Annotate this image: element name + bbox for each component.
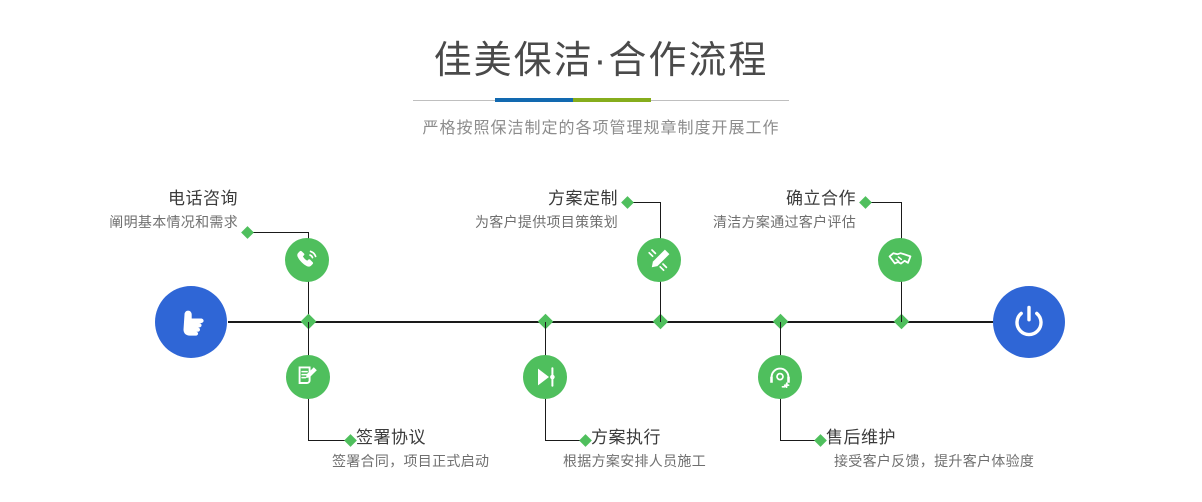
- label-marker-3: [621, 196, 634, 209]
- step-title-3: 方案定制: [400, 187, 618, 211]
- timeline-start-node[interactable]: [155, 286, 227, 358]
- step-title-1: 电话咨询: [20, 187, 238, 211]
- headset-support-icon: [767, 364, 793, 390]
- step-desc-6: 接受客户反馈，提升客户体验度: [834, 450, 1034, 472]
- step-label-5: 确立合作 清洁方案通过客户评估: [640, 187, 856, 233]
- pointing-hand-icon: [171, 302, 211, 342]
- label-marker-2: [344, 434, 357, 447]
- step-desc-1: 阐明基本情况和需求: [20, 211, 238, 233]
- label-marker-1: [241, 226, 254, 239]
- label-marker-6: [814, 434, 827, 447]
- step-desc-5: 清洁方案通过客户评估: [640, 211, 856, 233]
- connector-horizontal-1: [248, 232, 308, 233]
- step-desc-3: 为客户提供项目策策划: [400, 211, 618, 233]
- power-icon: [1008, 301, 1050, 343]
- step-label-3: 方案定制 为客户提供项目策策划: [400, 187, 618, 233]
- step-label-2: 签署协议 签署合同，项目正式启动: [356, 426, 489, 472]
- step-node-1[interactable]: [285, 238, 329, 282]
- step-title-2: 签署协议: [356, 426, 489, 450]
- document-edit-icon: [295, 364, 321, 390]
- process-flow-page: 佳美保洁·合作流程 严格按照保洁制定的各项管理规章制度开展工作: [0, 0, 1202, 502]
- step-desc-4: 根据方案安排人员施工: [563, 450, 706, 472]
- label-marker-4: [579, 434, 592, 447]
- step-node-5[interactable]: [878, 238, 922, 282]
- step-label-6: 售后维护 接受客户反馈，提升客户体验度: [826, 426, 1034, 472]
- play-execute-icon: [532, 364, 558, 390]
- step-desc-2: 签署合同，项目正式启动: [332, 450, 489, 472]
- timeline-end-node[interactable]: [993, 286, 1065, 358]
- step-title-4: 方案执行: [591, 426, 706, 450]
- process-timeline: 电话咨询 阐明基本情况和需求 签署协议 签署合同，项目正式启动: [0, 0, 1202, 502]
- pencil-ruler-icon: [646, 247, 672, 273]
- step-label-4: 方案执行 根据方案安排人员施工: [591, 426, 706, 472]
- step-node-2[interactable]: [286, 355, 330, 399]
- step-node-3[interactable]: [637, 238, 681, 282]
- step-label-1: 电话咨询 阐明基本情况和需求: [20, 187, 238, 233]
- step-title-5: 确立合作: [640, 187, 856, 211]
- step-title-6: 售后维护: [826, 426, 1034, 450]
- step-node-6[interactable]: [758, 355, 802, 399]
- phone-call-icon: [294, 247, 320, 273]
- step-node-4[interactable]: [523, 355, 567, 399]
- label-marker-5: [859, 196, 872, 209]
- timeline-axis: [228, 321, 1000, 323]
- handshake-icon: [887, 247, 913, 273]
